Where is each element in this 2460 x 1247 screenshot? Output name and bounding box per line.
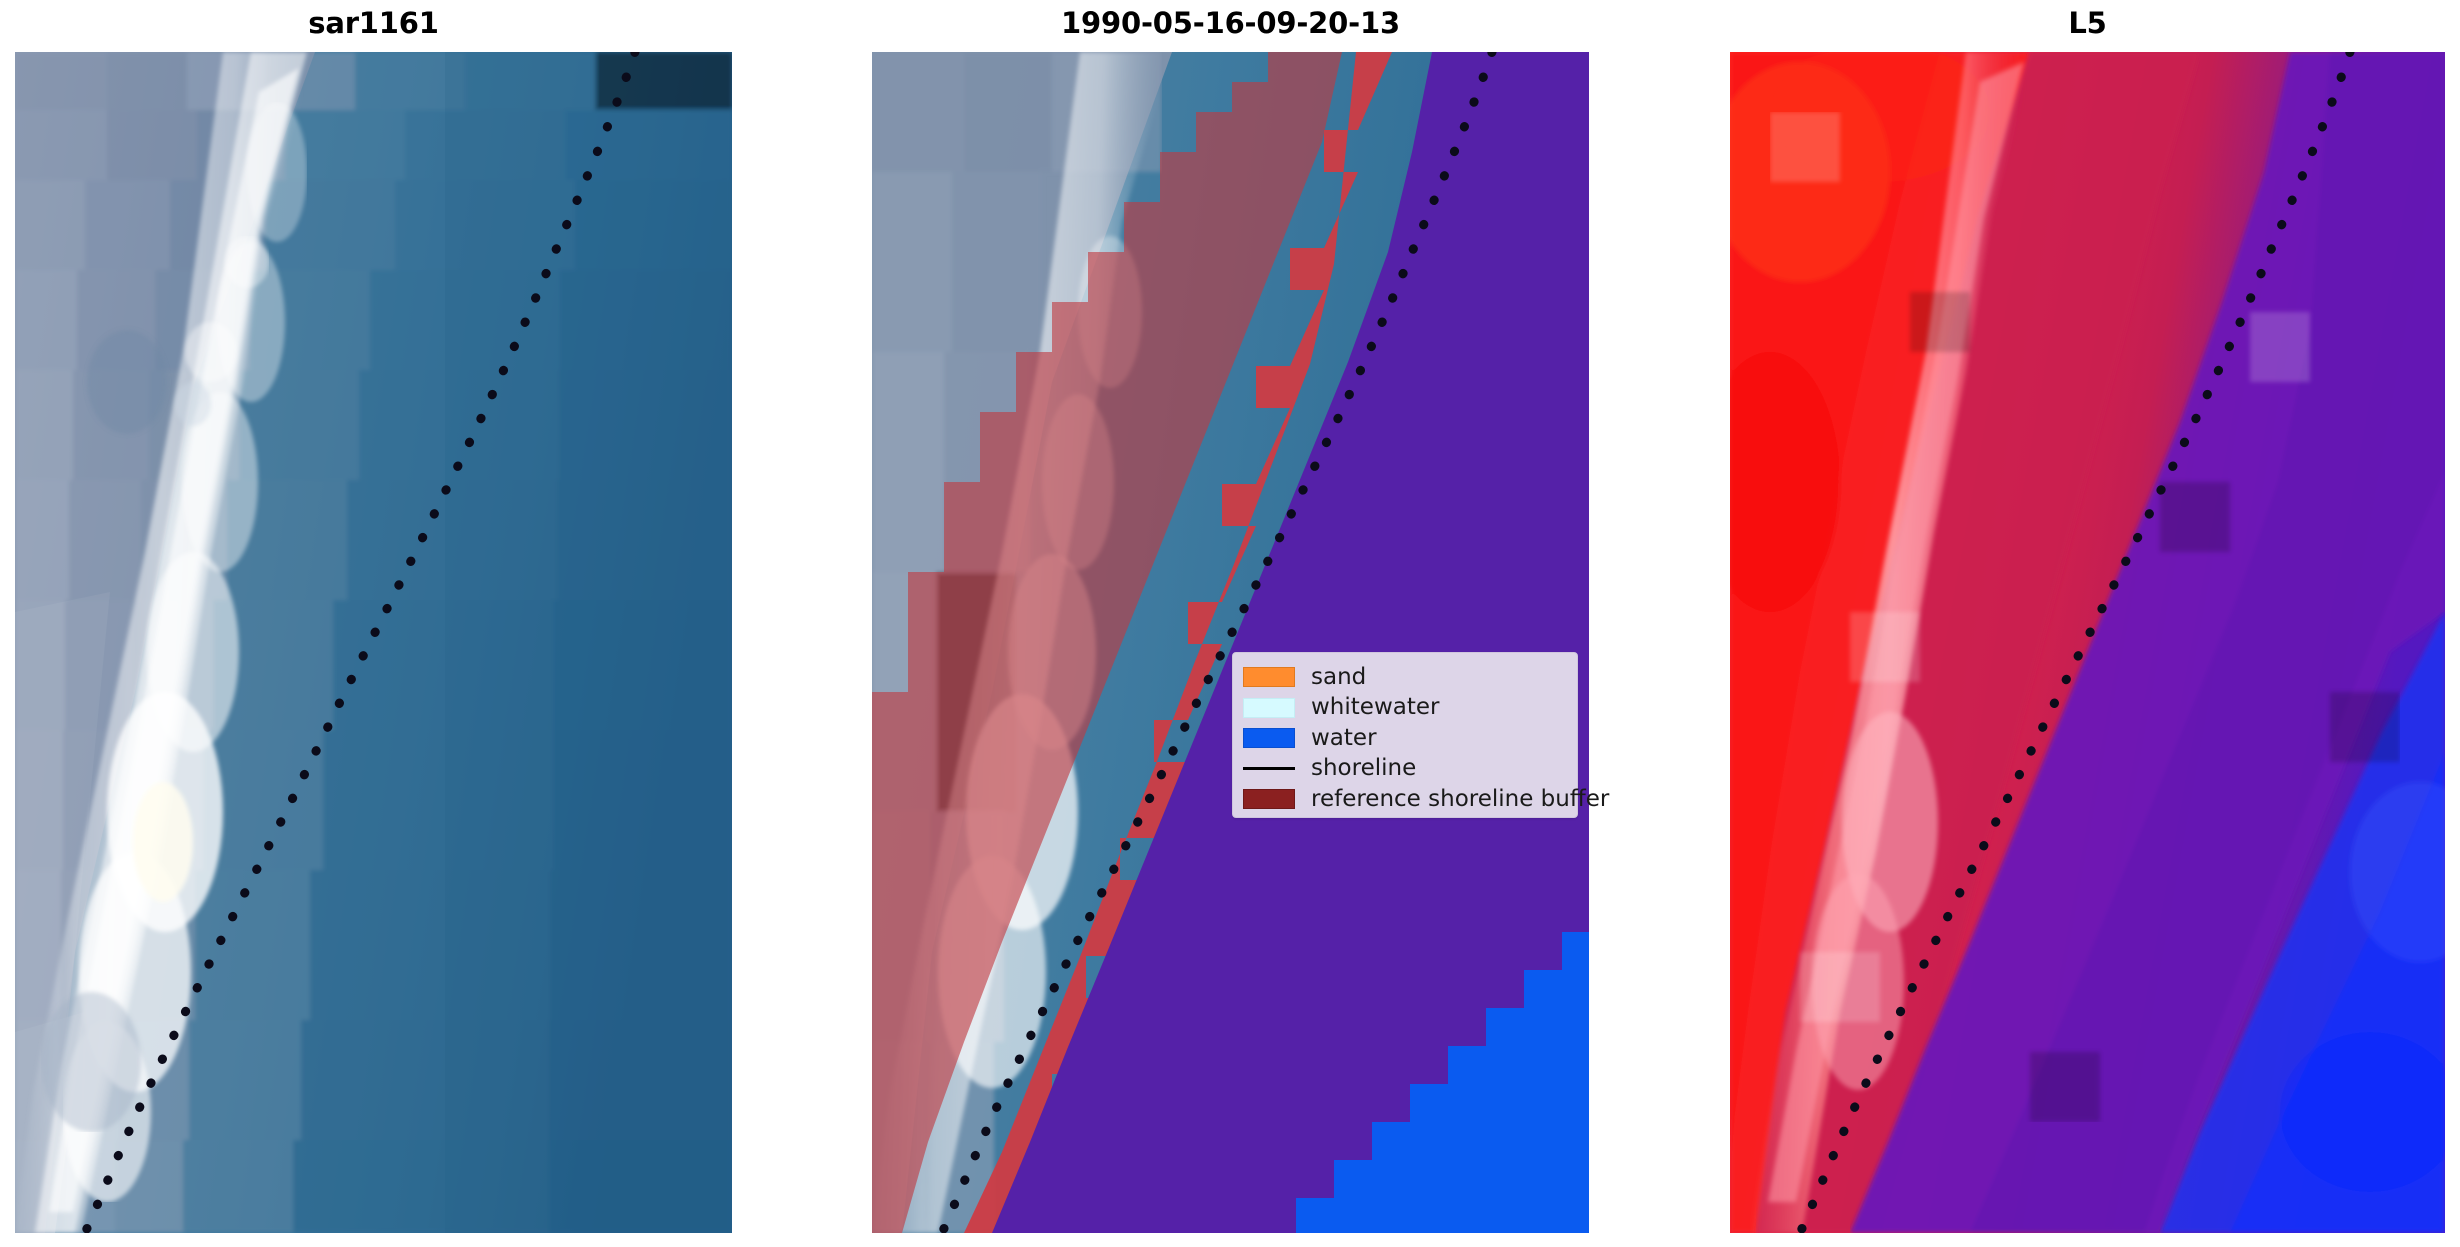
reference-shoreline-buffer-color-swatch	[1243, 789, 1295, 809]
panel-l5[interactable]	[1730, 52, 2445, 1233]
legend-label-whitewater: whitewater	[1311, 696, 1439, 719]
legend-box[interactable]: sand whitewater water shoreline referenc…	[1232, 652, 1578, 818]
legend-item-shoreline[interactable]: shoreline	[1243, 754, 1565, 785]
legend-item-reference-shoreline-buffer[interactable]: reference shoreline buffer	[1243, 784, 1565, 815]
panel-title-l5: L5	[1730, 6, 2445, 40]
legend-label-water: water	[1311, 727, 1377, 750]
legend-item-sand[interactable]: sand	[1243, 662, 1565, 693]
sand-color-swatch	[1243, 667, 1295, 687]
water-color-swatch	[1243, 728, 1295, 748]
whitewater-color-swatch	[1243, 698, 1295, 718]
shoreline-line-swatch	[1243, 759, 1295, 779]
panel-classified-1990-05-16-09-20-13[interactable]	[872, 52, 1589, 1233]
l5-raster-image	[1730, 52, 2445, 1233]
panel-sar1161[interactable]	[15, 52, 732, 1233]
legend-item-water[interactable]: water	[1243, 723, 1565, 754]
panel-title-sar: sar1161	[15, 6, 732, 40]
figure-root: sar1161	[0, 0, 2460, 1247]
panel-title-classified: 1990-05-16-09-20-13	[872, 6, 1589, 40]
legend-item-whitewater[interactable]: whitewater	[1243, 693, 1565, 724]
legend-label-sand: sand	[1311, 666, 1366, 689]
legend-label-shoreline: shoreline	[1311, 757, 1416, 780]
sar-raster-image	[15, 52, 732, 1233]
classified-raster-image	[872, 52, 1589, 1233]
legend-label-reference-shoreline-buffer: reference shoreline buffer	[1311, 788, 1609, 811]
